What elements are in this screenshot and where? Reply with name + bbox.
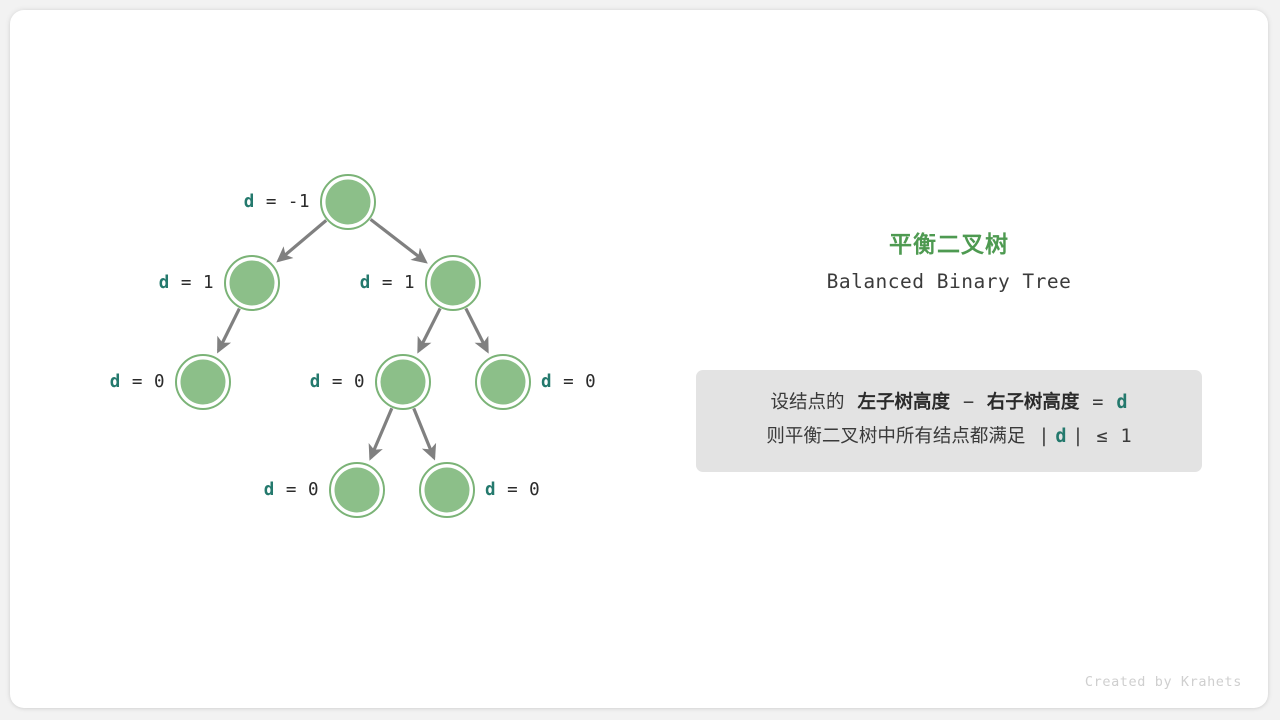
- label-variable-d: d: [310, 372, 321, 392]
- definition-box: 设结点的 左子树高度 − 右子树高度 = d 则平衡二叉树中所有结点都满足 | …: [696, 370, 1202, 472]
- tree-edge: [414, 408, 434, 457]
- label-variable-d: d: [485, 480, 496, 500]
- tree-node[interactable]: [425, 468, 470, 513]
- label-variable-d: d: [541, 372, 552, 392]
- abs-bar-close: |: [1072, 426, 1083, 447]
- condition-prefix: 则平衡二叉树中所有结点都满足: [766, 426, 1025, 447]
- tree-node[interactable]: [481, 360, 526, 405]
- variable-d-abs: d: [1055, 426, 1066, 447]
- tree-edges: [219, 219, 488, 457]
- node-balance-label: d = 0: [541, 372, 596, 392]
- tree-node[interactable]: [431, 261, 476, 306]
- label-value: = -1: [255, 192, 310, 212]
- binary-tree-graphic: [0, 0, 1280, 720]
- node-balance-label: d = 1: [360, 273, 415, 293]
- definition-line-2: 则平衡二叉树中所有结点都满足 | d | ≤ 1: [696, 420, 1202, 454]
- node-balance-label: d = 0: [264, 480, 319, 500]
- label-variable-d: d: [159, 273, 170, 293]
- label-value: = 1: [371, 273, 415, 293]
- node-balance-label: d = 0: [485, 480, 540, 500]
- abs-bar-open: |: [1038, 426, 1049, 447]
- label-value: = 0: [552, 372, 596, 392]
- tree-edge: [219, 309, 240, 351]
- credit-text: Created by Krahets: [1085, 674, 1242, 690]
- minus-operator: −: [963, 392, 974, 413]
- term-left-subtree-height: 左子树高度: [857, 392, 950, 413]
- label-variable-d: d: [110, 372, 121, 392]
- label-variable-d: d: [360, 273, 371, 293]
- node-balance-label: d = 0: [310, 372, 365, 392]
- label-value: = 0: [321, 372, 365, 392]
- tree-node[interactable]: [326, 180, 371, 225]
- variable-d: d: [1116, 392, 1127, 413]
- tree-nodes: [176, 175, 530, 517]
- diagram-stage: d = -1d = 1d = 1d = 0d = 0d = 0d = 0d = …: [0, 0, 1280, 720]
- label-value: = 0: [275, 480, 319, 500]
- definition-line-1: 设结点的 左子树高度 − 右子树高度 = d: [696, 386, 1202, 420]
- tree-edge: [466, 308, 487, 350]
- tree-node[interactable]: [230, 261, 275, 306]
- node-balance-label: d = 0: [110, 372, 165, 392]
- bound-value: 1: [1120, 426, 1131, 447]
- info-panel: 平衡二叉树 Balanced Binary Tree: [696, 225, 1202, 293]
- term-right-subtree-height: 右子树高度: [987, 392, 1080, 413]
- label-value: = 1: [170, 273, 214, 293]
- label-value: = 0: [121, 372, 165, 392]
- node-balance-label: d = 1: [159, 273, 214, 293]
- definition-prefix: 设结点的: [771, 392, 845, 413]
- tree-node[interactable]: [335, 468, 380, 513]
- label-value: = 0: [496, 480, 540, 500]
- node-balance-label: d = -1: [244, 192, 310, 212]
- tree-edge: [371, 408, 392, 458]
- tree-edge: [371, 219, 426, 261]
- tree-node[interactable]: [181, 360, 226, 405]
- label-variable-d: d: [264, 480, 275, 500]
- comparator-lte: ≤: [1096, 426, 1107, 447]
- page-title: 平衡二叉树: [696, 225, 1202, 259]
- tree-node[interactable]: [381, 360, 426, 405]
- page-subtitle: Balanced Binary Tree: [696, 270, 1202, 293]
- label-variable-d: d: [244, 192, 255, 212]
- tree-edge: [419, 308, 440, 350]
- equals-operator: =: [1092, 392, 1103, 413]
- tree-edge: [279, 220, 326, 260]
